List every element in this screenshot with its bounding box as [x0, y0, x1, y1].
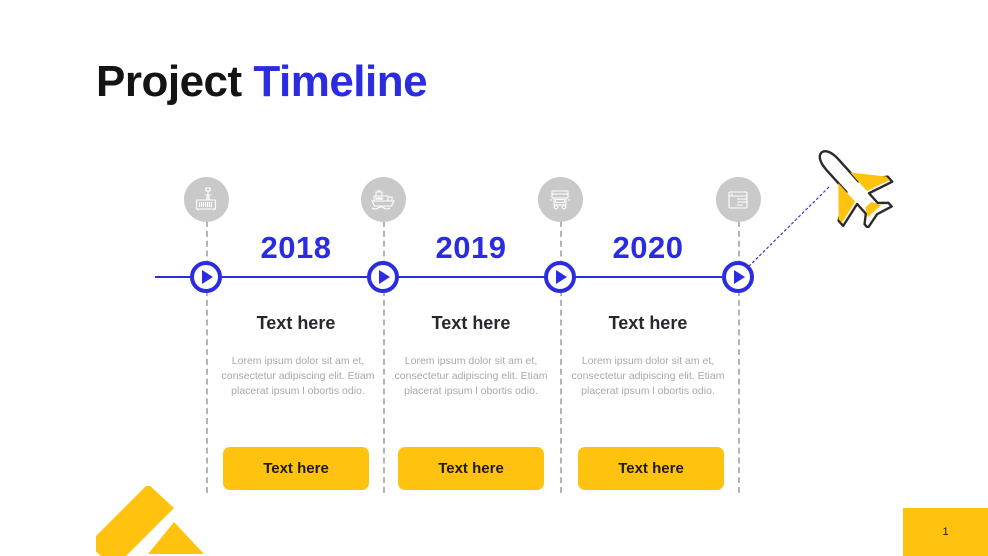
- column-heading-3: Text here: [558, 313, 738, 334]
- airplane-icon: [802, 138, 897, 228]
- column-heading-2: Text here: [381, 313, 561, 334]
- title-word-timeline: Timeline: [253, 57, 427, 106]
- play-triangle-icon: [379, 270, 390, 284]
- year-label-2019: 2019: [391, 230, 551, 266]
- page-number: 1: [942, 526, 948, 538]
- year-label-2018: 2018: [216, 230, 376, 266]
- shipping-container-icon: [184, 177, 229, 222]
- play-triangle-icon: [556, 270, 567, 284]
- page-title: Project Timeline: [96, 57, 427, 108]
- column-button-3[interactable]: Text here: [578, 447, 724, 490]
- page-number-badge: 1: [903, 508, 988, 556]
- play-triangle-icon: [734, 270, 745, 284]
- delivery-truck-icon: [538, 177, 583, 222]
- column-body-3: Lorem ipsum dolor sit am et, consectetur…: [571, 354, 725, 400]
- column-body-1: Lorem ipsum dolor sit am et, consectetur…: [221, 354, 375, 400]
- column-button-1[interactable]: Text here: [223, 447, 369, 490]
- play-triangle-icon: [202, 270, 213, 284]
- timeline-axis: [155, 276, 746, 278]
- title-word-project: Project: [96, 57, 242, 106]
- package-box-icon: [716, 177, 761, 222]
- yellow-diagonal-stripes-decoration: [96, 486, 236, 556]
- column-heading-1: Text here: [206, 313, 386, 334]
- slide-canvas: Project Timeline: [0, 0, 988, 556]
- column-button-2[interactable]: Text here: [398, 447, 544, 490]
- cargo-ship-icon: [361, 177, 406, 222]
- column-body-2: Lorem ipsum dolor sit am et, consectetur…: [394, 354, 548, 400]
- year-label-2020: 2020: [568, 230, 728, 266]
